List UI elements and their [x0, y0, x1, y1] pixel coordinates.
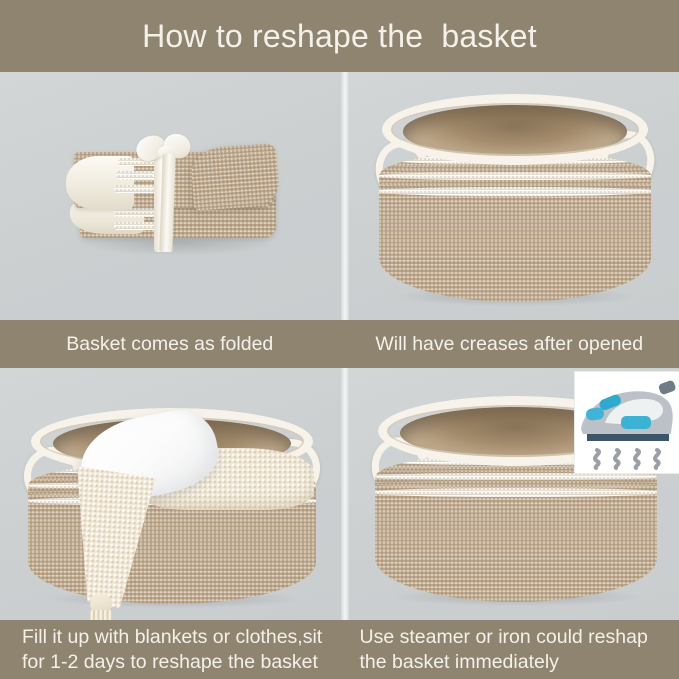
basket-rim [382, 94, 649, 165]
basket-stripe-gap [379, 165, 651, 171]
panel-filled-basket [0, 368, 341, 620]
page-header: How to reshape the basket [0, 0, 679, 72]
blanket-tassel [86, 594, 116, 620]
steam-iron-icon [575, 372, 679, 473]
folded-basket-illustration [74, 130, 279, 255]
basket-stripe [375, 473, 657, 481]
basket-rim-lip [382, 94, 649, 165]
caption-folded-text: Basket comes as folded [66, 332, 273, 357]
caption-folded: Basket comes as folded [0, 320, 340, 368]
basket-body [375, 454, 657, 602]
folded-basket-bow [138, 134, 194, 168]
caption-steamer: Use steamer or iron could reshap the bas… [340, 620, 679, 679]
folded-basket-flap [190, 143, 280, 211]
caption-creases: Will have creases after opened [340, 320, 679, 368]
basket-stripe-gap [375, 481, 657, 487]
panel-creased-basket [349, 72, 679, 320]
filled-basket-illustration [28, 408, 316, 604]
panel-folded-basket [0, 72, 341, 320]
basket-stripe [379, 172, 651, 180]
basket-stripe-gap [379, 180, 651, 186]
basket-stripe [379, 187, 651, 196]
caption-steamer-line1: Use steamer or iron could reshap [360, 625, 648, 650]
panel-divider-top [341, 72, 349, 320]
infographic-page: How to reshape the basket [0, 0, 679, 679]
page-title: How to reshape the basket [142, 18, 537, 55]
caption-steamer-line2: the basket immediately [360, 650, 559, 675]
caption-band-bottom: Fill it up with blankets or clothes,sit … [0, 620, 679, 679]
basket-stripe [375, 488, 657, 497]
caption-fill-up-line2: for 1-2 days to reshape the basket [22, 650, 318, 675]
basket-body [379, 152, 651, 302]
caption-fill-up: Fill it up with blankets or clothes,sit … [0, 620, 340, 679]
caption-creases-text: Will have creases after opened [375, 332, 643, 357]
steam-iron-badge [575, 372, 679, 473]
panel-divider-bottom [341, 368, 349, 620]
caption-band-middle: Basket comes as folded Will have creases… [0, 320, 679, 368]
caption-fill-up-line1: Fill it up with blankets or clothes,sit [22, 625, 322, 650]
creased-basket-illustration [379, 94, 651, 302]
panel-steamed-basket [349, 368, 679, 620]
tassel-skirt [86, 610, 116, 620]
